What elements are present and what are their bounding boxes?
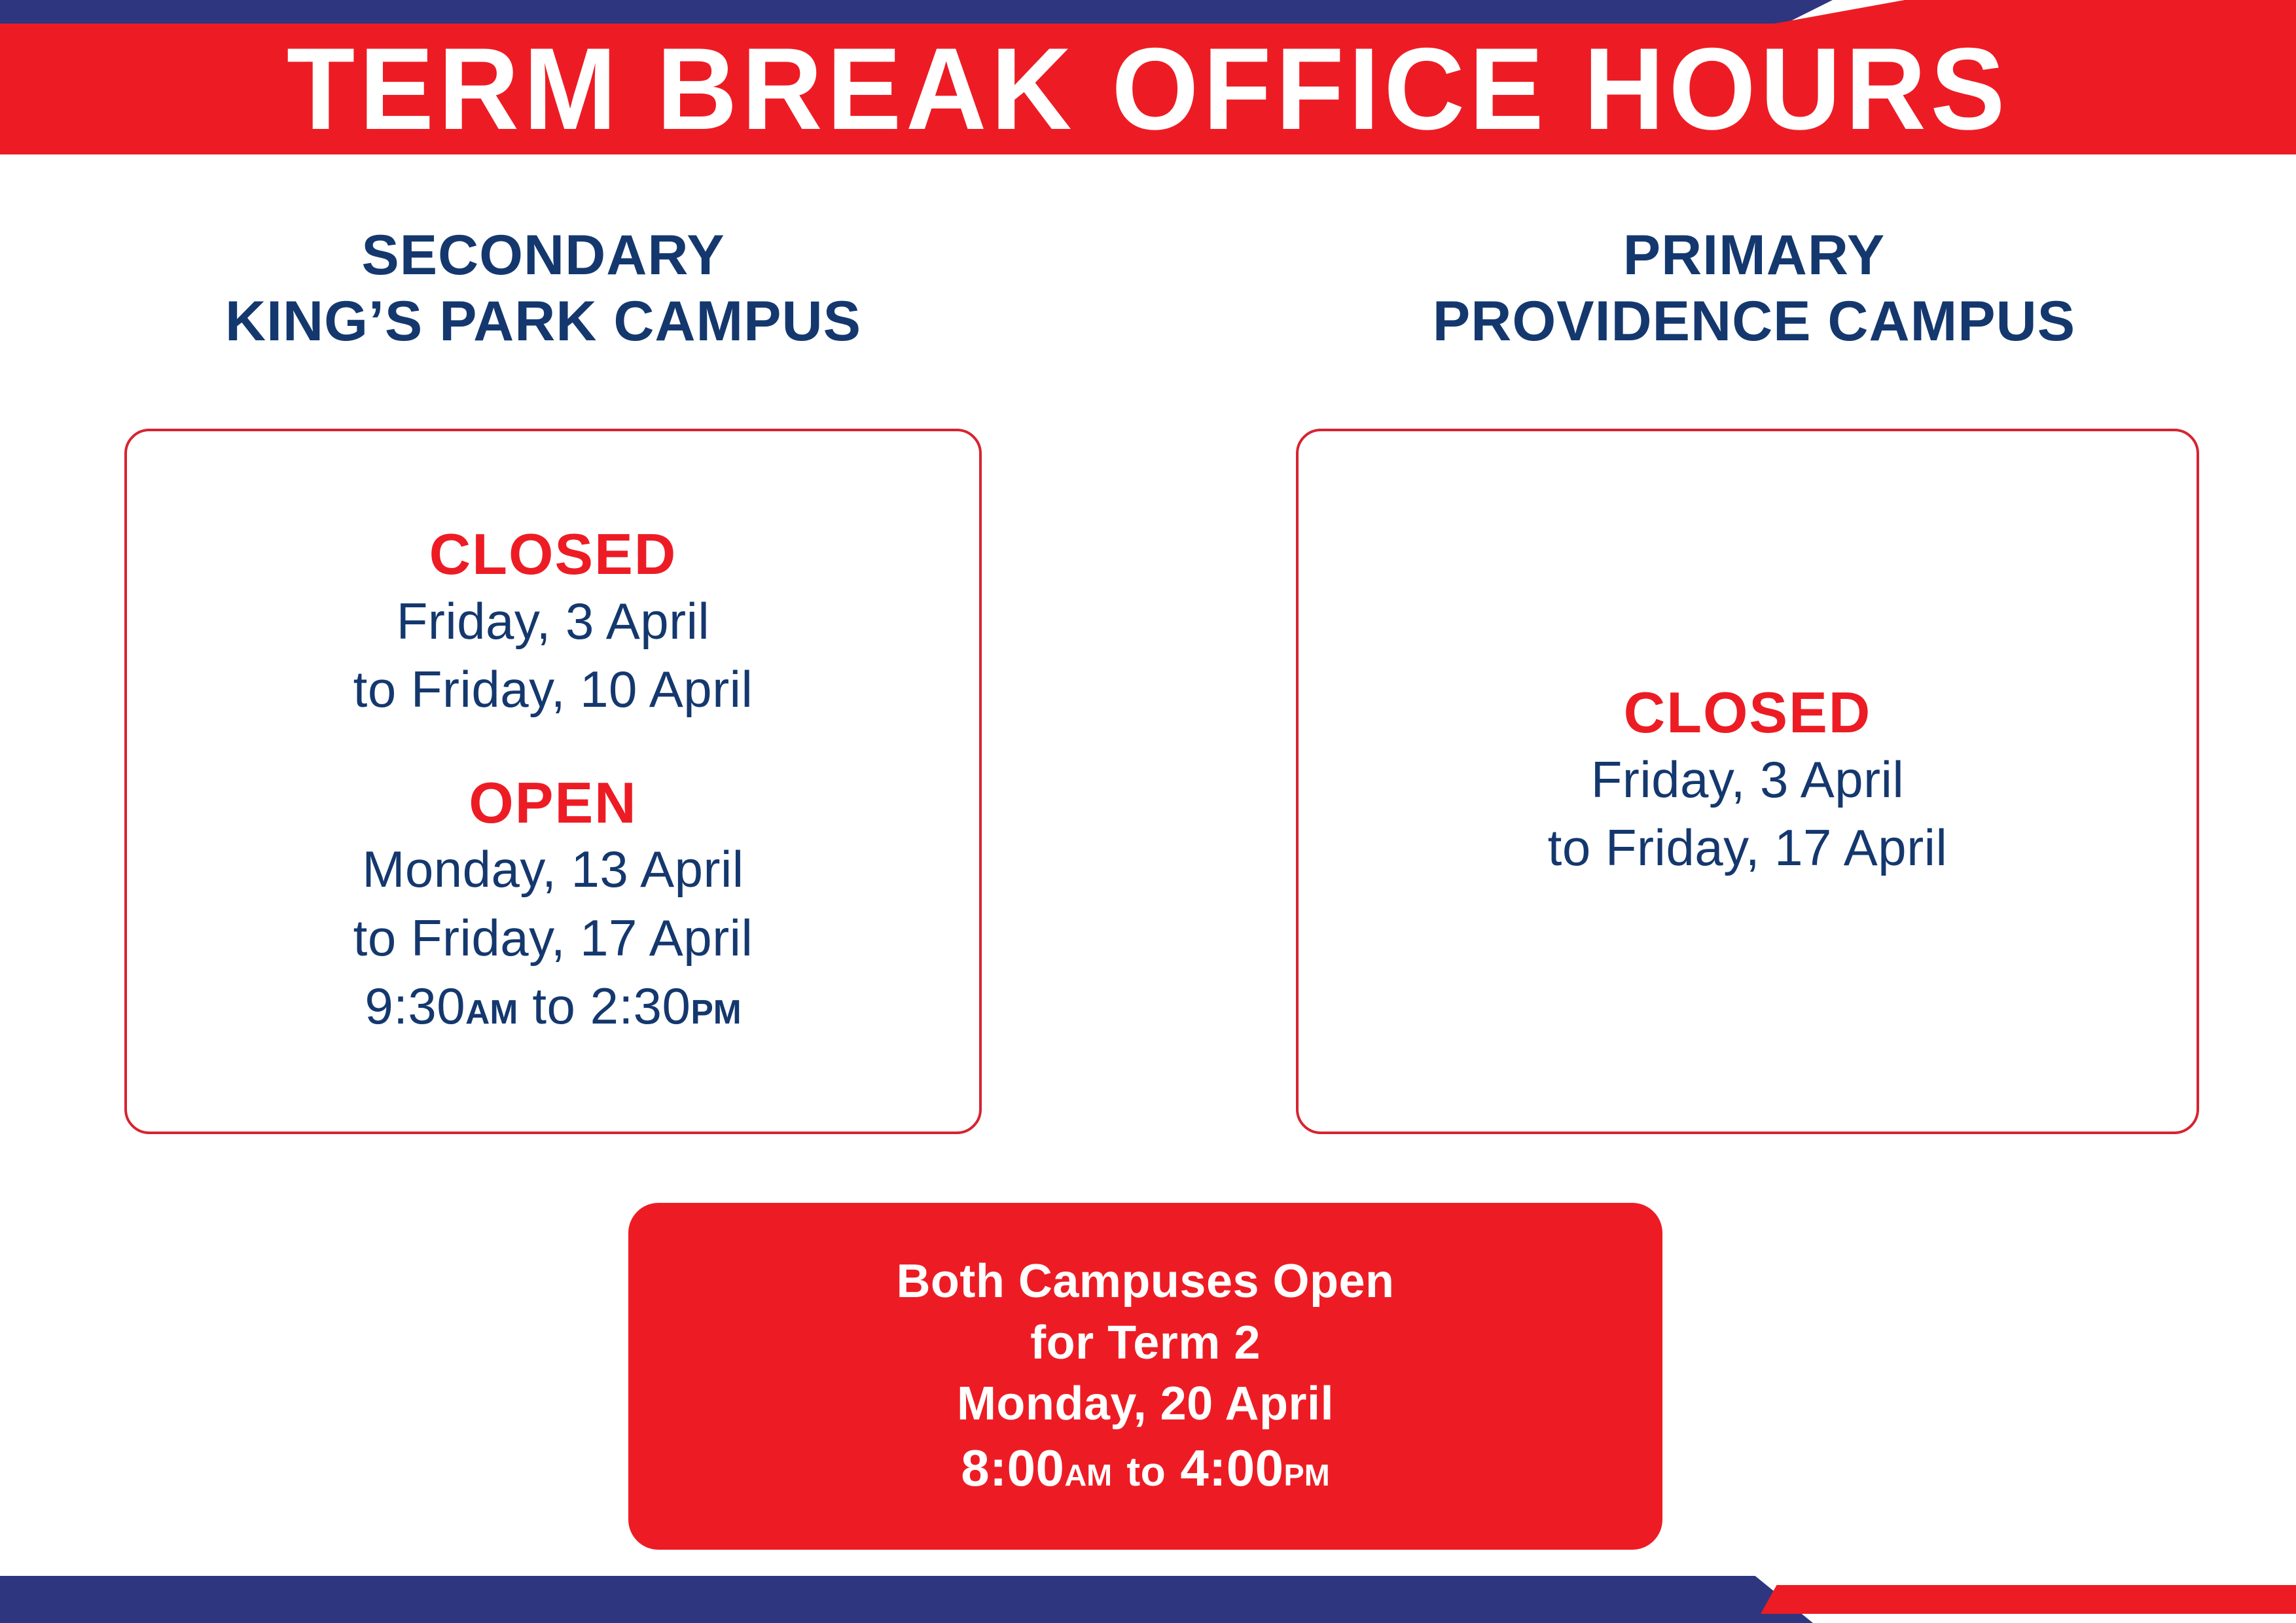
hours-card-secondary: CLOSED Friday, 3 April to Friday, 10 Apr… [124,429,982,1134]
campus-heading-primary-line1: PRIMARY [1289,223,2219,289]
bottom-navy-strip [0,1576,1754,1623]
hours-block-closed: CLOSED Friday, 3 April to Friday, 10 Apr… [353,522,753,724]
open-time-line: 9:30AM to 2:30PM [353,972,753,1041]
open-date-line-2: to Friday, 17 April [353,904,753,972]
banner-time-end: 4:00 [1180,1439,1283,1497]
open-time-start: 9:30 [365,977,465,1035]
campus-heading-primary-line2: PROVIDENCE CAMPUS [1289,289,2219,355]
open-time-conjunction: to [532,977,575,1035]
campus-heading-secondary-line2: KING’S PARK CAMPUS [79,289,1008,355]
closed-date-line-2: to Friday, 10 April [353,655,753,724]
banner-line-1: Both Campuses Open [896,1251,1394,1313]
open-time-start-suffix: AM [465,993,518,1031]
top-red-notch [1767,0,2296,25]
poster-canvas: TERM BREAK OFFICE HOURS SECONDARY KING’S… [0,0,2296,1623]
hours-card-primary: CLOSED Friday, 3 April to Friday, 17 Apr… [1296,429,2199,1134]
bottom-red-strip [1761,1585,2296,1614]
banner-time-conjunction: to [1126,1450,1166,1495]
banner-time-start: 8:00 [961,1439,1064,1497]
closed-date-line-1: Friday, 3 April [353,587,753,656]
primary-closed-date-line-1: Friday, 3 April [1548,745,1948,814]
banner-time-start-suffix: AM [1064,1458,1112,1492]
campus-heading-secondary: SECONDARY KING’S PARK CAMPUS [79,223,1008,355]
campus-heading-secondary-line1: SECONDARY [79,223,1008,289]
banner-time-line: 8:00AM to 4:00PM [961,1435,1329,1501]
status-badge-open: OPEN [353,771,753,836]
banner-time-end-suffix: PM [1284,1458,1330,1492]
open-time-end: 2:30 [590,977,691,1035]
page-title: TERM BREAK OFFICE HOURS [46,24,2250,154]
both-campuses-banner: Both Campuses Open for Term 2 Monday, 20… [628,1203,1662,1550]
status-badge-closed: CLOSED [353,522,753,587]
open-time-end-suffix: PM [691,993,741,1031]
campus-heading-primary: PRIMARY PROVIDENCE CAMPUS [1289,223,2219,355]
top-navy-strip [0,0,1780,24]
hours-block-closed-primary: CLOSED Friday, 3 April to Friday, 17 Apr… [1548,681,1948,882]
hours-block-open: OPEN Monday, 13 April to Friday, 17 Apri… [353,771,753,1041]
banner-line-3: Monday, 20 April [957,1374,1334,1435]
primary-closed-date-line-2: to Friday, 17 April [1548,813,1948,882]
banner-line-2: for Term 2 [1030,1313,1261,1374]
open-date-line-1: Monday, 13 April [353,835,753,904]
status-badge-closed-primary: CLOSED [1548,681,1948,745]
